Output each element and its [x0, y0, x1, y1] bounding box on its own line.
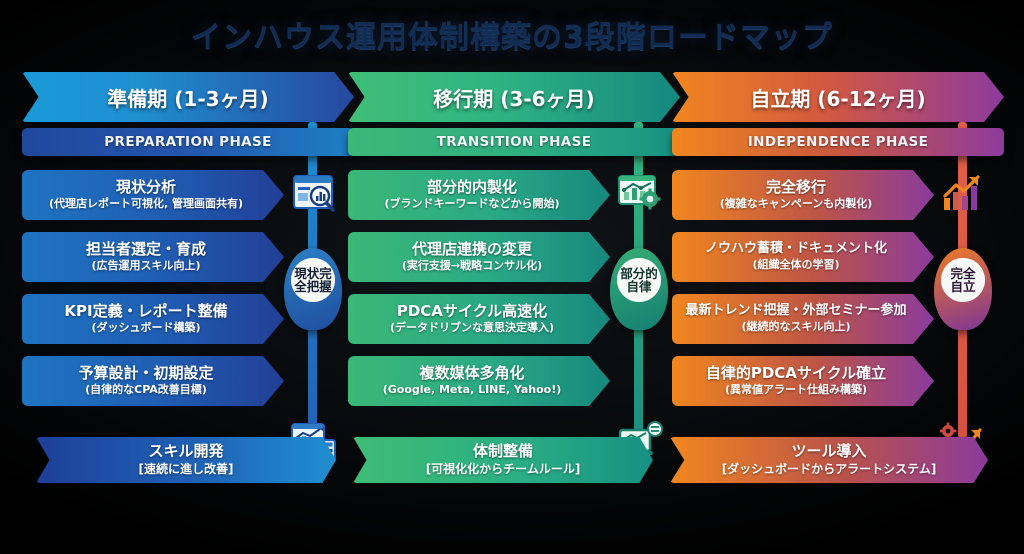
- list-item[interactable]: PDCAサイクル高速化 (データドリブンな意思決定導入): [348, 294, 610, 344]
- phase-subtitle-banner: TRANSITION PHASE: [348, 128, 680, 156]
- phase-subtitle-label: TRANSITION PHASE: [437, 134, 592, 150]
- item-subtitle: (データドリブンな意思決定導入): [390, 321, 554, 335]
- status-badge: 現状完 全把握: [291, 258, 335, 302]
- phase-title-banner[interactable]: 準備期 (1-3ヶ月): [22, 72, 354, 122]
- phase-subtitle-label: INDEPENDENCE PHASE: [748, 134, 929, 150]
- phase-subtitle-banner: PREPARATION PHASE: [22, 128, 354, 156]
- outcome-banner-tools[interactable]: ツール導入 [ダッシュボードからアラートシステム]: [670, 437, 988, 483]
- item-subtitle: (ダッシュボード構築): [91, 321, 200, 335]
- phase-title-banner[interactable]: 自立期 (6-12ヶ月): [672, 72, 1004, 122]
- list-item[interactable]: 最新トレンド把握・外部セミナー参加 (継続的なスキル向上): [672, 294, 934, 344]
- item-title: 自律的PDCAサイクル確立: [706, 365, 886, 382]
- page-title: インハウス運用体制構築の3段階ロードマップ: [0, 12, 1024, 56]
- item-title: 最新トレンド把握・外部セミナー参加: [685, 304, 906, 318]
- list-item[interactable]: 予算設計・初期設定 (自律的なCPA改善目標): [22, 356, 284, 406]
- outcome-subtitle: [速続に進し改善]: [139, 460, 234, 477]
- outcome-subtitle: [可視化化からチームルール]: [426, 460, 581, 477]
- phase-title-label: 準備期 (1-3ヶ月): [107, 83, 268, 112]
- list-item[interactable]: 代理店連携の変更 (実行支援→戦略コンサル化): [348, 232, 610, 282]
- status-badge: 完全 自立: [941, 258, 985, 302]
- outcome-title: ツール導入: [791, 443, 866, 460]
- item-subtitle: (自律的なCPA改善目標): [85, 383, 207, 397]
- phase-title-label: 自立期 (6-12ヶ月): [750, 83, 925, 112]
- list-item[interactable]: ノウハウ蓄積・ドキュメント化 (組織全体の学習): [672, 232, 934, 282]
- outcome-title: 体制整備: [473, 443, 533, 460]
- phase-column-independence: 自立期 (6-12ヶ月) INDEPENDENCE PHASE 完全移行 (複雑…: [672, 72, 1004, 418]
- item-subtitle: (複雑なキャンペーンも内製化): [720, 197, 873, 211]
- item-title: 完全移行: [766, 179, 826, 196]
- item-title: ノウハウ蓄積・ドキュメント化: [705, 242, 887, 256]
- list-item[interactable]: KPI定義・レポート整備 (ダッシュボード構築): [22, 294, 284, 344]
- item-title: KPI定義・レポート整備: [64, 303, 227, 320]
- outcome-subtitle: [ダッシュボードからアラートシステム]: [722, 460, 937, 477]
- outcome-banner-skill[interactable]: スキル開発 [速続に進し改善]: [36, 437, 336, 483]
- phase-title-label: 移行期 (3-6ヶ月): [433, 83, 594, 112]
- phase-column-preparation: 準備期 (1-3ヶ月) PREPARATION PHASE 現状分析 (代理店レ…: [22, 72, 354, 418]
- item-subtitle: (広告運用スキル向上): [91, 259, 200, 273]
- status-badge-line2: 全把握: [294, 280, 332, 293]
- dashboard-magnifier-icon: [290, 172, 338, 214]
- phase-title-banner[interactable]: 移行期 (3-6ヶ月): [348, 72, 680, 122]
- item-subtitle: (ブランドキーワードなどから開始): [384, 197, 559, 211]
- item-subtitle: (実行支援→戦略コンサル化): [402, 259, 542, 273]
- phase-subtitle-banner: INDEPENDENCE PHASE: [672, 128, 1004, 156]
- item-subtitle: (異常値アラート仕組み構築): [725, 383, 867, 397]
- item-title: 担当者選定・育成: [86, 241, 206, 258]
- list-item[interactable]: 部分的内製化 (ブランドキーワードなどから開始): [348, 170, 610, 220]
- item-title: 代理店連携の変更: [412, 241, 532, 258]
- phase-column-transition: 移行期 (3-6ヶ月) TRANSITION PHASE 部分的内製化 (ブラン…: [348, 72, 680, 418]
- item-subtitle: (継続的なスキル向上): [741, 320, 850, 334]
- item-subtitle: (代理店レポート可視化, 管理画面共有): [49, 197, 243, 211]
- status-badge-line2: 自立: [950, 280, 975, 293]
- list-item[interactable]: 複数媒体多角化 (Google, Meta, LINE, Yahoo!): [348, 356, 610, 406]
- list-item[interactable]: 担当者選定・育成 (広告運用スキル向上): [22, 232, 284, 282]
- status-badge: 部分的 自律: [617, 258, 661, 302]
- item-title: 現状分析: [116, 179, 176, 196]
- roadmap-infographic: インハウス運用体制構築の3段階ロードマップ 準備期 (1-3ヶ月) PREPAR…: [0, 0, 1024, 554]
- growth-arrow-bars-icon: [940, 172, 988, 214]
- outcome-title: スキル開発: [148, 443, 223, 460]
- chart-gear-icon: [616, 172, 664, 214]
- phase-subtitle-label: PREPARATION PHASE: [104, 134, 272, 150]
- item-subtitle: (組織全体の学習): [752, 258, 839, 272]
- item-title: 予算設計・初期設定: [78, 365, 213, 382]
- outcome-banner-structure[interactable]: 体制整備 [可視化化からチームルール]: [353, 437, 653, 483]
- item-title: 複数媒体多角化: [419, 365, 524, 382]
- status-badge-line2: 自律: [626, 280, 651, 293]
- list-item[interactable]: 自律的PDCAサイクル確立 (異常値アラート仕組み構築): [672, 356, 934, 406]
- item-title: PDCAサイクル高速化: [397, 303, 547, 320]
- list-item[interactable]: 現状分析 (代理店レポート可視化, 管理画面共有): [22, 170, 284, 220]
- list-item[interactable]: 完全移行 (複雑なキャンペーンも内製化): [672, 170, 934, 220]
- item-title: 部分的内製化: [427, 179, 517, 196]
- item-subtitle: (Google, Meta, LINE, Yahoo!): [383, 383, 562, 397]
